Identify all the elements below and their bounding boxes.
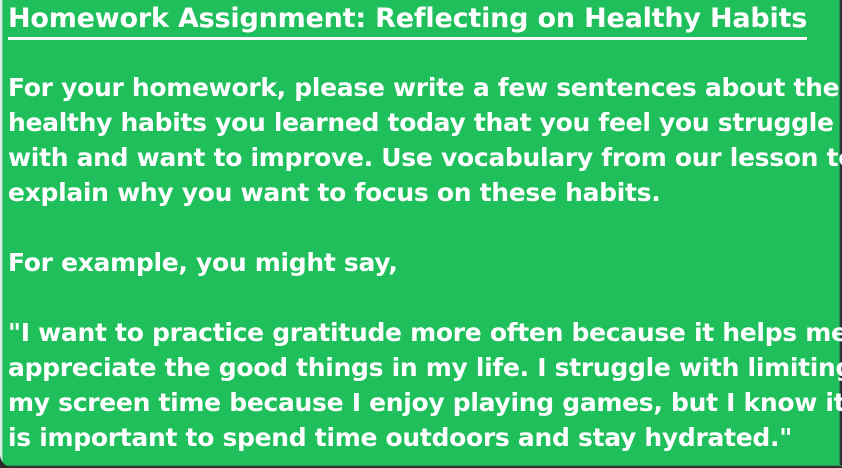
instructions-line: with and want to improve. Use vocabulary… xyxy=(8,140,838,175)
example-quote-line: "I want to practice gratitude more often… xyxy=(8,315,838,350)
instructions-line: explain why you want to focus on these h… xyxy=(8,175,838,210)
example-quote-line: my screen time because I enjoy playing g… xyxy=(8,385,838,420)
example-intro-line: For example, you might say, xyxy=(8,245,838,280)
example-intro-paragraph: For example, you might say, xyxy=(8,245,838,280)
instructions-paragraph: For your homework, please write a few se… xyxy=(8,70,838,210)
instructions-line: For your homework, please write a few se… xyxy=(8,70,838,105)
homework-assignment-slide: Homework Assignment: Reflecting on Healt… xyxy=(0,0,842,468)
slide-title: Homework Assignment: Reflecting on Healt… xyxy=(8,2,807,40)
slide-content: Homework Assignment: Reflecting on Healt… xyxy=(0,0,842,455)
example-quote-line: is important to spend time outdoors and … xyxy=(8,420,838,455)
instructions-line: healthy habits you learned today that yo… xyxy=(8,105,838,140)
example-quote-line: appreciate the good things in my life. I… xyxy=(8,350,838,385)
example-quote-paragraph: "I want to practice gratitude more often… xyxy=(8,315,838,455)
